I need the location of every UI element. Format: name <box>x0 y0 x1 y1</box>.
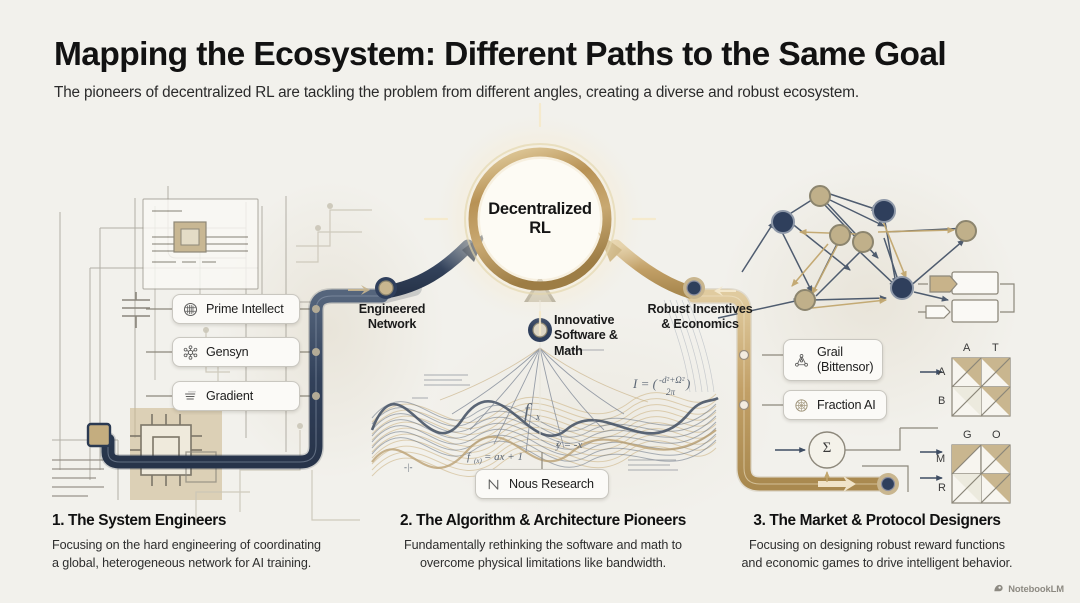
page-subtitle: The pioneers of decentralized RL are tac… <box>54 84 1034 102</box>
path-label-line-1: Robust Incentives <box>647 302 752 316</box>
entity-chip-gensyn[interactable]: Gensyn <box>172 337 300 367</box>
entity-chip-grail-bittensor[interactable]: Grail (Bittensor) <box>783 339 883 381</box>
column-body: Fundamentally rethinking the software an… <box>378 537 708 573</box>
header: Mapping the Ecosystem: Different Paths t… <box>54 36 1034 102</box>
column-body-line-2: overcome physical limitations like bandw… <box>420 556 666 570</box>
gradient-icon <box>182 388 199 405</box>
svg-text:= ax + 1: = ax + 1 <box>484 451 523 463</box>
matrix-top-row-1: B <box>938 395 945 407</box>
svg-text:(x): (x) <box>474 457 482 465</box>
chip-label: Fraction AI <box>817 398 876 412</box>
chip-label-line-2: (Bittensor) <box>817 360 873 374</box>
prime-intellect-icon <box>182 301 199 318</box>
matrix-bottom-col-0: G <box>963 429 972 441</box>
matrix-top-col-1: T <box>992 342 999 354</box>
entity-chip-gradient[interactable]: Gradient <box>172 381 300 411</box>
page-title: Mapping the Ecosystem: Different Paths t… <box>54 36 1034 74</box>
hub-label-line-1: Decentralized <box>488 200 591 218</box>
fraction-ai-icon <box>793 397 810 414</box>
column-body-line-2: a global, heterogeneous network for AI t… <box>52 556 311 570</box>
column-body: Focusing on designing robust reward func… <box>722 537 1032 573</box>
matrix-bottom-col-1: O <box>992 429 1001 441</box>
path-label-line-2: Network <box>368 317 416 331</box>
column-body-line-2: and economic games to drive intelligent … <box>742 556 1013 570</box>
hub-label-line-2: RL <box>529 219 550 237</box>
path-label-line-2: Software & <box>554 328 618 342</box>
column-body-line-1: Focusing on the hard engineering of coor… <box>52 538 321 552</box>
grail-icon <box>793 352 810 369</box>
path-label-engineered-network: Engineered Network <box>340 302 444 333</box>
sigma-node-label: Σ <box>817 440 837 457</box>
chip-label: Prime Intellect <box>206 302 284 316</box>
gensyn-icon <box>182 344 199 361</box>
entity-chip-nous-research[interactable]: Nous Research <box>475 469 609 499</box>
column-body-line-1: Fundamentally rethinking the software an… <box>404 538 682 552</box>
central-hub: Decentralized RL <box>473 152 607 286</box>
nous-research-icon <box>485 476 502 493</box>
svg-text:-|-: -|- <box>404 462 412 472</box>
column-heading: 2. The Algorithm & Architecture Pioneers <box>378 512 708 530</box>
svg-text:2π: 2π <box>666 387 676 397</box>
chip-label: Nous Research <box>509 477 594 491</box>
column-market-protocol-designers: 3. The Market & Protocol Designers Focus… <box>722 512 1032 573</box>
chip-label-line-1: Grail <box>817 345 843 359</box>
matrix-bottom-row-0: M <box>936 453 945 465</box>
chip-label: Gensyn <box>206 345 249 359</box>
svg-text:I = (: I = ( <box>632 376 658 391</box>
entity-chip-fraction-ai[interactable]: Fraction AI <box>783 390 887 420</box>
path-label-line-1: Innovative <box>554 313 614 327</box>
path-label-robust-incentives-economics: Robust Incentives & Economics <box>632 302 768 333</box>
matrix-bottom-row-1: R <box>938 482 946 494</box>
central-hub-label: Decentralized RL <box>488 200 591 238</box>
svg-text:): ) <box>685 376 690 391</box>
path-label-line-3: Math <box>554 344 583 358</box>
matrix-top-col-0: A <box>963 342 970 354</box>
chip-label: Grail (Bittensor) <box>817 345 873 375</box>
column-heading: 3. The Market & Protocol Designers <box>722 512 1032 530</box>
column-body: Focusing on the hard engineering of coor… <box>52 537 362 573</box>
column-algorithm-architecture-pioneers: 2. The Algorithm & Architecture Pioneers… <box>378 512 708 573</box>
column-heading: 1. The System Engineers <box>52 512 362 530</box>
watermark-label: NotebookLM <box>1008 583 1064 594</box>
entity-chip-prime-intellect[interactable]: Prime Intellect <box>172 294 300 324</box>
watermark: NotebookLM <box>993 583 1064 594</box>
path-label-line-2: & Economics <box>661 317 739 331</box>
matrix-top-row-0: A <box>938 366 945 378</box>
svg-text:2: 2 <box>556 440 560 448</box>
path-label-line-1: Engineered <box>359 302 426 316</box>
column-body-line-1: Focusing on designing robust reward func… <box>749 538 1005 552</box>
svg-text:-d²+Ω²: -d²+Ω² <box>659 375 685 385</box>
chip-label: Gradient <box>206 389 253 403</box>
column-system-engineers: 1. The System Engineers Focusing on the … <box>52 512 362 573</box>
notebooklm-icon <box>993 583 1004 594</box>
